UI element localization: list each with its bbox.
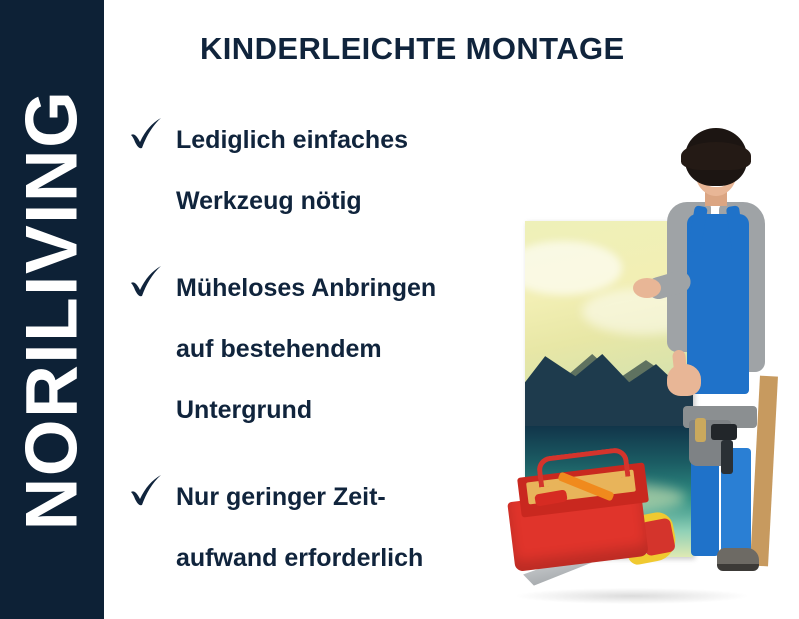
wood-plank: [750, 376, 778, 567]
belt-tool-pliers: [721, 440, 733, 474]
list-item-text: Lediglich einfaches Werkzeug nötig: [168, 110, 526, 232]
worker-hand-thumbs-up: [667, 364, 701, 396]
check-mark-icon: [126, 469, 168, 511]
product-photo: [487, 118, 799, 619]
benefit-line: Lediglich einfaches: [176, 110, 526, 171]
worker-shoe-sole: [717, 564, 759, 571]
red-toolbox: [497, 454, 687, 604]
list-item-text: Müheloses Anbringen auf bestehendem Unte…: [168, 258, 526, 441]
benefit-line: Untergrund: [176, 380, 526, 441]
page-title: KINDERLEICHTE MONTAGE: [200, 32, 625, 66]
list-item-text: Nur geringer Zeit- aufwand erforderlich: [168, 467, 526, 589]
benefit-line: Nur geringer Zeit-: [176, 467, 526, 528]
benefit-list: Lediglich einfaches Werkzeug nötig Mühel…: [126, 110, 526, 589]
brand-wordmark: NORILIVING: [16, 89, 89, 530]
belt-tool-screwdriver: [695, 418, 706, 442]
list-item: Lediglich einfaches Werkzeug nötig: [126, 110, 526, 232]
list-item: Müheloses Anbringen auf bestehendem Unte…: [126, 258, 526, 441]
worker-hand-on-panel: [633, 278, 661, 298]
check-mark-icon: [126, 112, 168, 154]
belt-tool-block: [711, 424, 737, 440]
check-mark-icon: [126, 260, 168, 302]
list-item: Nur geringer Zeit- aufwand erforderlich: [126, 467, 526, 589]
worker-hair-fringe: [681, 142, 751, 170]
benefit-line: aufwand erforderlich: [176, 528, 526, 589]
promo-banner: NORILIVING KINDERLEICHTE MONTAGE Ledigli…: [0, 0, 799, 619]
benefit-line: auf bestehendem: [176, 319, 526, 380]
brand-sidebar: NORILIVING: [0, 0, 104, 619]
benefit-line: Werkzeug nötig: [176, 171, 526, 232]
benefit-line: Müheloses Anbringen: [176, 258, 526, 319]
